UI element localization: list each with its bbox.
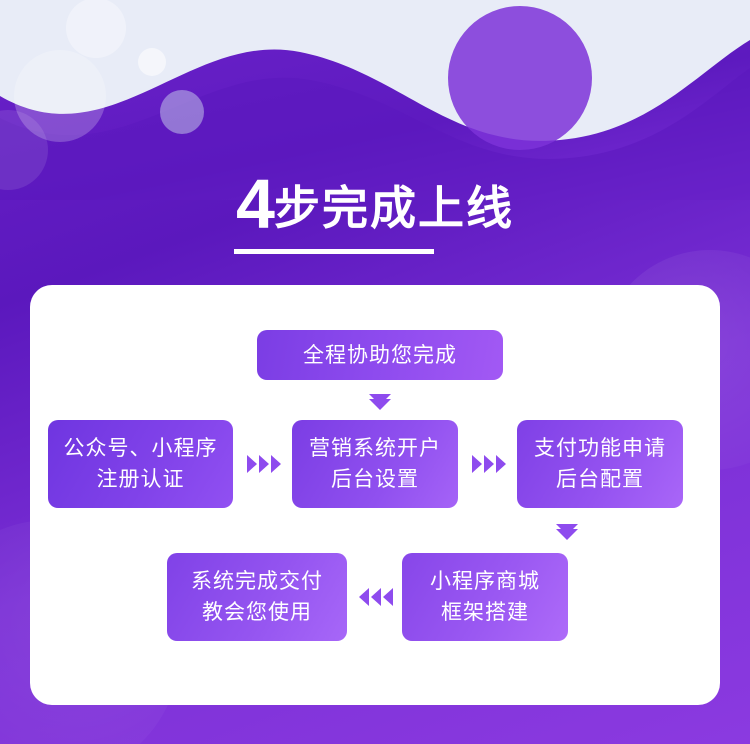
- chevron-down-icon: [369, 399, 391, 410]
- flow-node-step-1-line1: 公众号、小程序: [64, 433, 218, 464]
- chevron-right-icon: [484, 455, 494, 473]
- flow-node-top-label: 全程协助您完成: [303, 340, 457, 371]
- flow-node-step-3: 支付功能申请 后台配置: [517, 420, 683, 508]
- page-title-text: 步完成上线: [274, 182, 514, 234]
- flow-node-step-3-line2: 后台配置: [556, 464, 644, 495]
- flow-node-step-2-line1: 营销系统开户: [309, 433, 441, 464]
- flow-node-top: 全程协助您完成: [257, 330, 503, 380]
- chevron-right-icon: [496, 455, 506, 473]
- flow-node-step-2-line2: 后台设置: [331, 464, 419, 495]
- flow-node-step-4-line2: 框架搭建: [441, 597, 529, 628]
- flow-node-step-5-line1: 系统完成交付: [191, 566, 323, 597]
- flow-node-step-3-line1: 支付功能申请: [534, 433, 666, 464]
- chevron-right-icon: [271, 455, 281, 473]
- chevron-left-icon: [383, 588, 393, 606]
- chevron-right-icon: [472, 455, 482, 473]
- chevron-right-icon: [247, 455, 257, 473]
- arrow-step2-step3: [463, 453, 517, 475]
- arrow-step4-step5: [348, 586, 402, 608]
- arrow-top-down: [368, 389, 392, 415]
- page-title-number: 4: [236, 165, 274, 243]
- flow-node-step-4: 小程序商城 框架搭建: [402, 553, 568, 641]
- page-title-inner: 4步完成上线: [230, 168, 520, 254]
- poster-root: 4步完成上线 全程协助您完成 公众号、小程序 注册认证 营销系统开户 后台设: [0, 0, 750, 744]
- flow-node-step-1-line2: 注册认证: [97, 464, 185, 495]
- page-title-underline: [234, 249, 434, 254]
- flow-node-step-2: 营销系统开户 后台设置: [292, 420, 458, 508]
- chevron-left-icon: [359, 588, 369, 606]
- arrow-step1-step2: [238, 453, 292, 475]
- chevron-right-icon: [259, 455, 269, 473]
- flow-node-step-5-line2: 教会您使用: [202, 597, 312, 628]
- flow-node-step-1: 公众号、小程序 注册认证: [48, 420, 233, 508]
- flow-node-step-4-line1: 小程序商城: [430, 566, 540, 597]
- arrow-step3-step4: [555, 517, 579, 547]
- page-title: 4步完成上线: [0, 168, 750, 254]
- chevron-left-icon: [371, 588, 381, 606]
- flow-card: 全程协助您完成 公众号、小程序 注册认证 营销系统开户 后台设置: [30, 285, 720, 705]
- chevron-down-icon: [556, 529, 578, 540]
- flow-node-step-5: 系统完成交付 教会您使用: [167, 553, 347, 641]
